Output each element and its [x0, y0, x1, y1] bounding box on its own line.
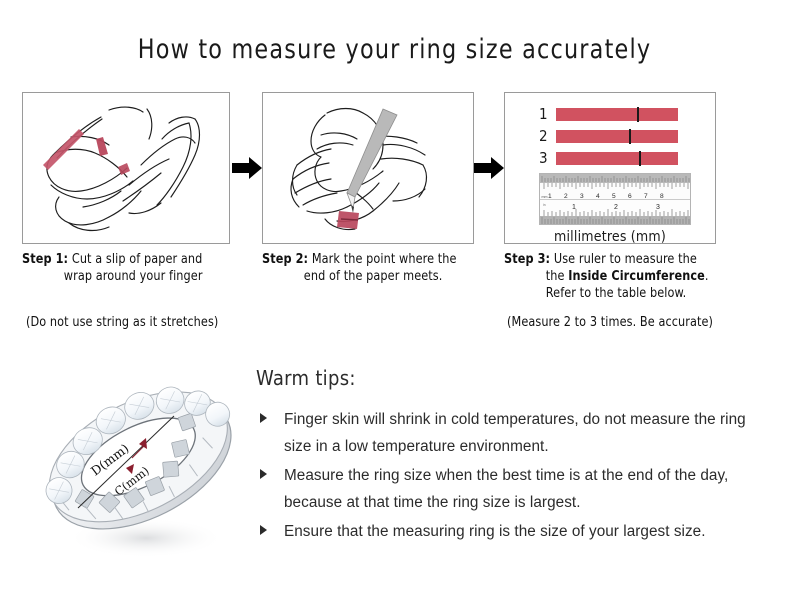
unit-caption: millimetres (mm)	[505, 229, 715, 244]
svg-text:in: in	[543, 203, 546, 207]
paper-strip-bar	[556, 108, 678, 121]
ruler-illustration: 123 456 78 mm 123 in	[539, 173, 691, 225]
strip-row: 3	[539, 149, 689, 167]
step-3-emphasis: Inside Circumference	[568, 269, 705, 284]
tip-item: Measure the ring size when the best time…	[256, 462, 771, 516]
arrow-right-icon-2	[474, 155, 504, 181]
pen-mark	[629, 129, 631, 144]
warm-tips-heading: Warm tips:	[256, 366, 771, 390]
measured-paper-strips: 1 2 3	[539, 105, 689, 171]
triangle-bullet-icon	[260, 469, 267, 479]
step-3-illustration-panel: 1 2 3	[504, 92, 716, 244]
paper-strip-bar	[556, 152, 678, 165]
ring-diagram: D(mm) C(mm)	[26, 352, 258, 584]
strip-row: 2	[539, 127, 689, 145]
svg-text:8: 8	[660, 193, 664, 200]
marking-paper-with-pen-drawing	[263, 93, 473, 243]
pen-mark	[637, 107, 639, 122]
svg-text:mm: mm	[542, 195, 548, 199]
step-2-caption: Step 2: Mark the point where the end of …	[262, 251, 486, 285]
step-2-label: Step 2:	[262, 252, 308, 267]
arrow-right-icon-1	[232, 155, 262, 181]
step-1-label: Step 1:	[22, 252, 68, 267]
step-3-label: Step 3:	[504, 252, 550, 267]
strip-row: 1	[539, 105, 689, 123]
tip-item: Finger skin will shrink in cold temperat…	[256, 406, 771, 460]
svg-text:1: 1	[548, 193, 552, 200]
svg-text:3: 3	[656, 204, 660, 211]
page-title: How to measure your ring size accurately	[32, 34, 758, 65]
step-1-illustration-panel	[22, 92, 230, 244]
steps-panel-row: 1 2 3	[0, 92, 789, 244]
svg-text:2: 2	[614, 204, 618, 211]
svg-text:1: 1	[572, 204, 576, 211]
tip-item: Ensure that the measuring ring is the si…	[256, 518, 771, 545]
warm-tips-section: Warm tips: Finger skin will shrink in co…	[256, 366, 771, 547]
step-3-note: (Measure 2 to 3 times. Be accurate)	[507, 315, 713, 330]
svg-text:3: 3	[580, 193, 584, 200]
strip-number: 2	[539, 129, 556, 144]
step-2-text-line1: Mark the point where the	[312, 252, 457, 267]
svg-text:7: 7	[644, 193, 648, 200]
tip-text: Measure the ring size when the best time…	[284, 467, 728, 511]
tip-text: Ensure that the measuring ring is the si…	[284, 523, 706, 540]
svg-text:2: 2	[564, 193, 568, 200]
hand-with-paper-slip-drawing	[23, 93, 229, 243]
triangle-bullet-icon	[260, 413, 267, 423]
step-3-text-line3: Refer to the table below.	[504, 285, 759, 302]
step-1-text-line2: wrap around your finger	[22, 268, 246, 285]
step-3-text-line1: Use ruler to measure the	[554, 252, 697, 267]
svg-text:4: 4	[596, 193, 600, 200]
tip-text: Finger skin will shrink in cold temperat…	[284, 411, 746, 455]
step-3-caption: Step 3: Use ruler to measure the the Ins…	[504, 251, 759, 302]
paper-strip-bar	[556, 130, 678, 143]
svg-text:6: 6	[628, 193, 632, 200]
step-2-illustration-panel	[262, 92, 474, 244]
ring-size-guide-infographic: How to measure your ring size accurately	[0, 0, 789, 606]
step-1-text-line1: Cut a slip of paper and	[72, 252, 203, 267]
step-3-text-line2: the Inside Circumference.	[504, 268, 759, 285]
strip-number: 1	[539, 107, 556, 122]
step-2-text-line2: end of the paper meets.	[262, 268, 486, 285]
svg-text:5: 5	[612, 193, 616, 200]
step-3-line2-post: .	[705, 269, 709, 284]
triangle-bullet-icon	[260, 525, 267, 535]
step-1-note: (Do not use string as it stretches)	[26, 315, 218, 330]
strip-number: 3	[539, 151, 556, 166]
pen-mark	[639, 151, 641, 166]
step-3-line2-pre: the	[546, 269, 568, 284]
step-1-caption: Step 1: Cut a slip of paper and wrap aro…	[22, 251, 246, 285]
